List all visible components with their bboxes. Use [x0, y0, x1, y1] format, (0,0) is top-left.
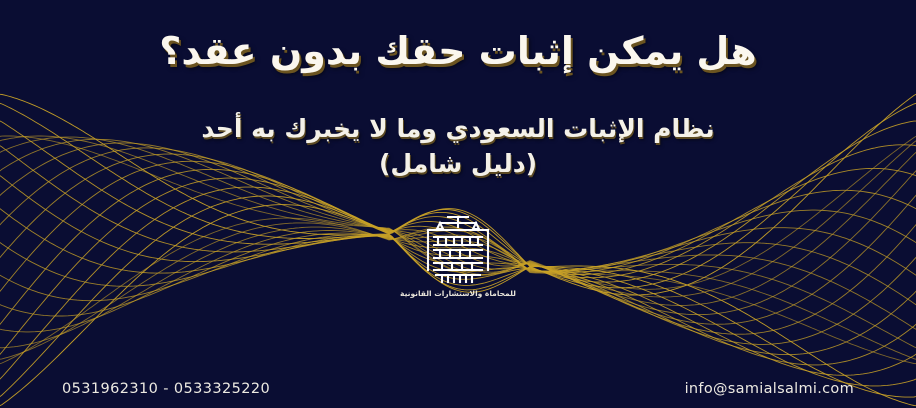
subtitle-line-2: (دليل شامل) [0, 147, 916, 182]
page-title: هل يمكن إثبات حقك بدون عقد؟ [0, 28, 916, 76]
promo-banner: هل يمكن إثبات حقك بدون عقد؟ نظام الإثبات… [0, 0, 916, 408]
contact-phone-numbers[interactable]: 0531962310 - 0533325220 [62, 381, 270, 397]
brand-tagline: للمحاماة والاستشارات القانونية [348, 289, 568, 298]
brand-logo: للمحاماة والاستشارات القانونية [348, 214, 568, 298]
subtitle-line-1: نظام الإثبات السعودي وما لا يخبرك به أحد [201, 114, 714, 143]
contact-email[interactable]: info@samialsalmi.com [685, 381, 854, 397]
subtitle: نظام الإثبات السعودي وما لا يخبرك به أحد… [0, 112, 916, 181]
banner-content: هل يمكن إثبات حقك بدون عقد؟ نظام الإثبات… [0, 0, 916, 408]
kufic-logo-icon [404, 214, 512, 286]
